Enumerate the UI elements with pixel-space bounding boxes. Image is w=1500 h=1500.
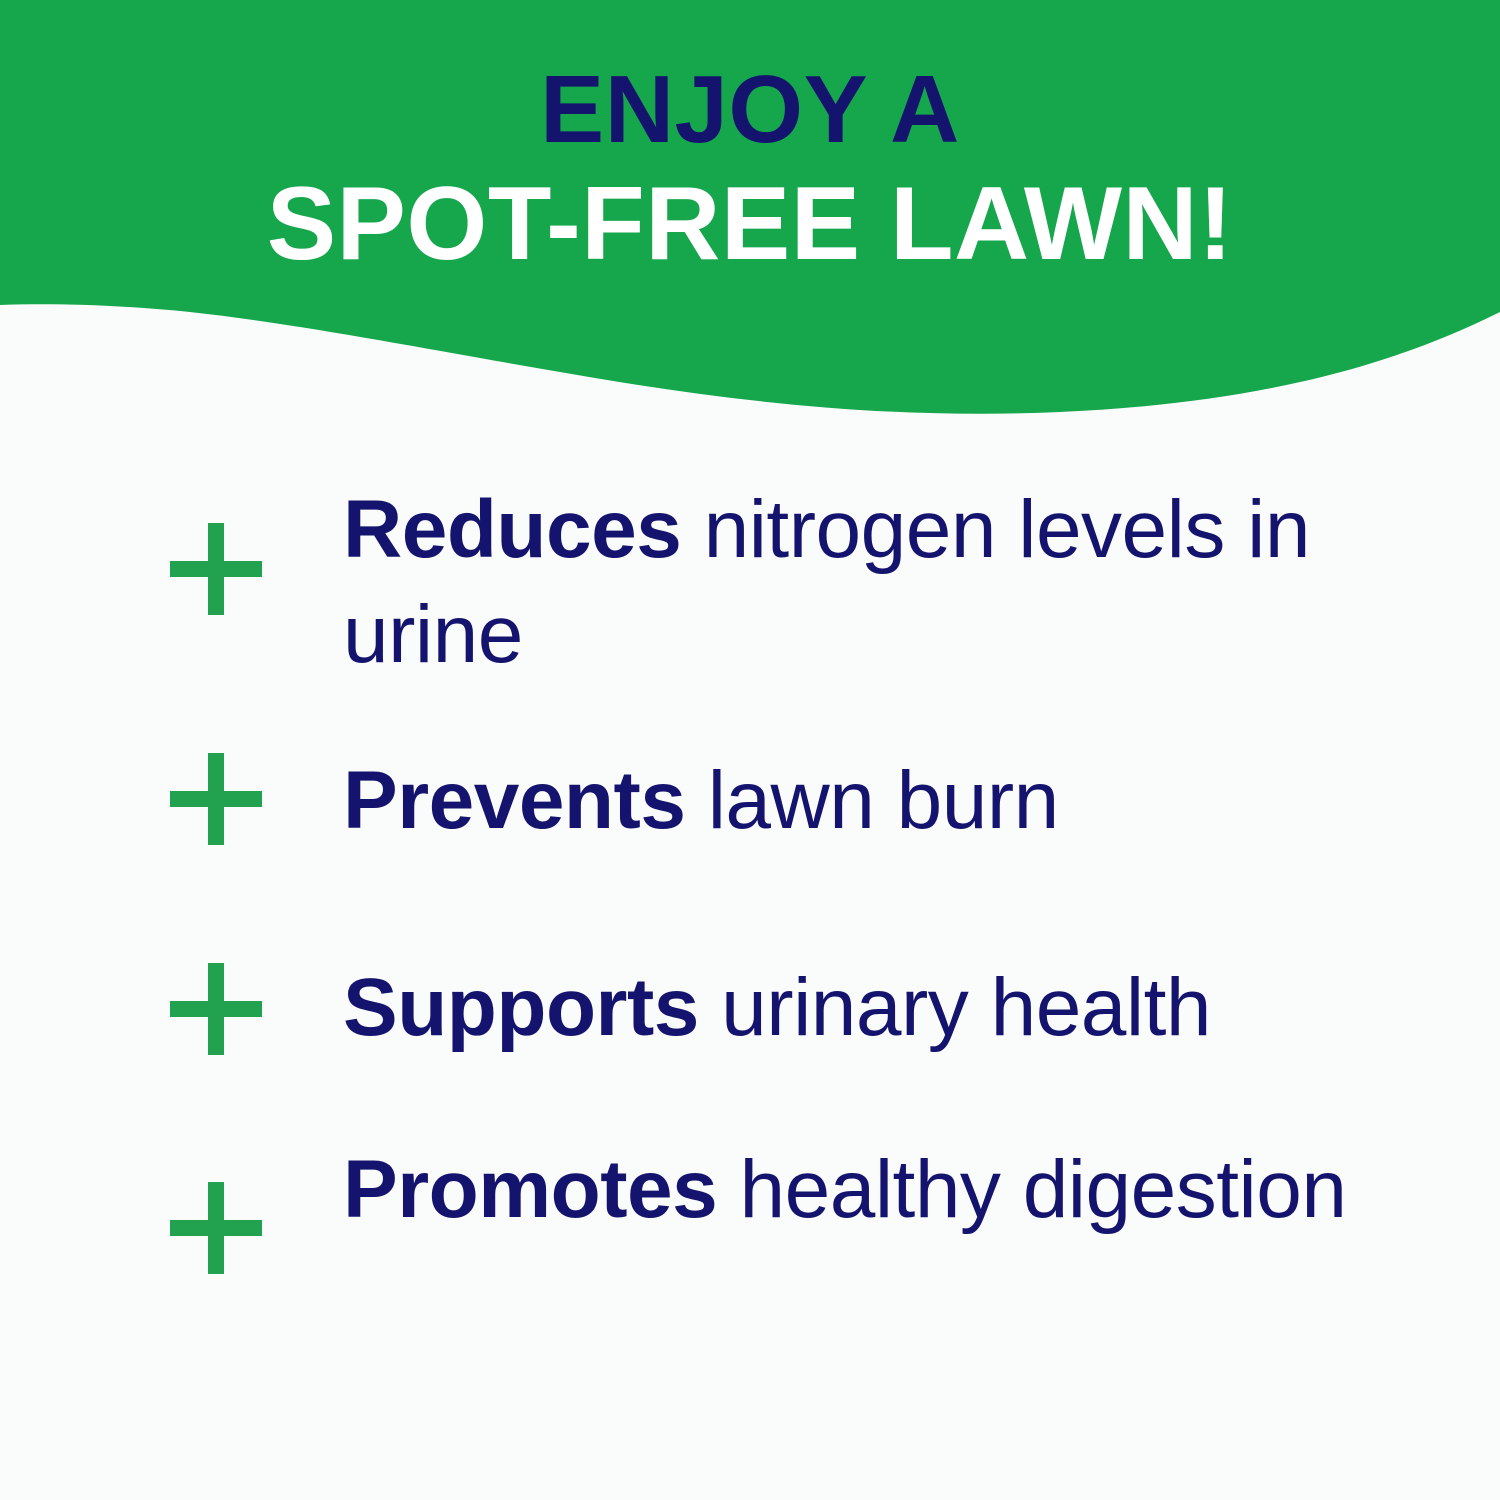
benefit-rest-text: healthy digestion (717, 1144, 1346, 1235)
benefit-lead-word: Promotes (343, 1144, 717, 1235)
plus-icon (170, 523, 262, 615)
plus-icon (170, 753, 262, 845)
benefit-rest-text: urinary health (699, 962, 1211, 1053)
headline-line-1: ENJOY A (0, 62, 1500, 158)
benefit-text: Supports urinary health (343, 955, 1500, 1060)
benefit-text: Prevents lawn burn (343, 748, 1433, 853)
plus-icon (170, 963, 262, 1055)
product-benefits-poster: ENJOY A SPOT-FREE LAWN! Reduces nitrogen… (0, 0, 1500, 1500)
benefit-lead-word: Supports (343, 962, 699, 1053)
benefit-lead-word: Reduces (343, 484, 681, 575)
plus-icon (170, 1182, 262, 1274)
benefit-lead-word: Prevents (343, 755, 685, 846)
benefit-text: Promotes healthy digestion (343, 1137, 1433, 1242)
benefit-text: Reduces nitrogen levels in urine (343, 477, 1433, 687)
headline-line-2: SPOT-FREE LAWN! (0, 172, 1500, 276)
benefit-rest-text: lawn burn (685, 755, 1058, 846)
